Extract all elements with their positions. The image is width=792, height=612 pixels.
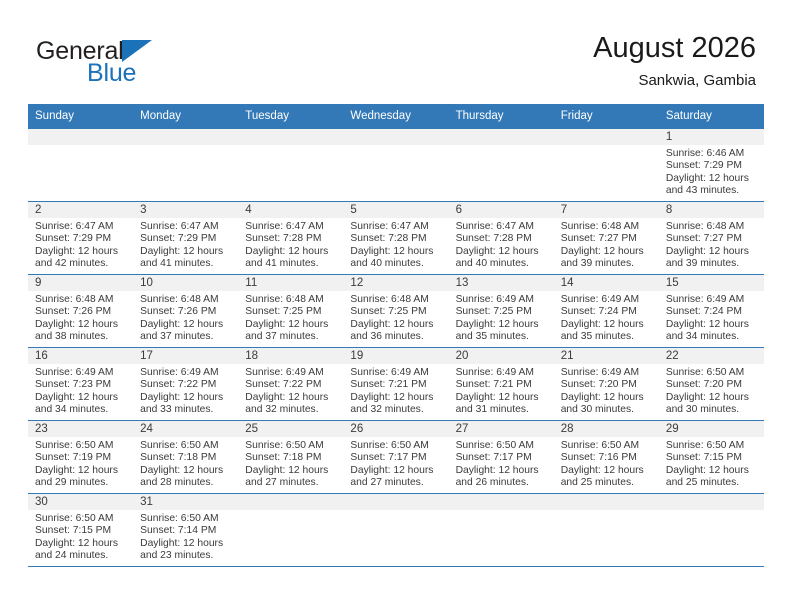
sun-times: Sunrise: 6:50 AMSunset: 7:20 PMDaylight:… — [659, 364, 764, 417]
calendar-week-row: 2Sunrise: 6:47 AMSunset: 7:29 PMDaylight… — [28, 202, 764, 275]
daylight-line-1: Daylight: 12 hours — [561, 392, 655, 404]
daylight-line-2: and 26 minutes. — [456, 477, 550, 489]
sun-times: Sunrise: 6:47 AMSunset: 7:28 PMDaylight:… — [343, 218, 448, 271]
sunset-time: Sunset: 7:23 PM — [35, 379, 129, 391]
sunrise-time: Sunrise: 6:49 AM — [456, 294, 550, 306]
daylight-line-2: and 33 minutes. — [140, 404, 234, 416]
daylight-line-1: Daylight: 12 hours — [245, 465, 339, 477]
daylight-line-2: and 39 minutes. — [561, 258, 655, 270]
daylight-line-2: and 27 minutes. — [245, 477, 339, 489]
day-cell-empty — [28, 129, 133, 202]
day-number: 14 — [554, 275, 659, 291]
daylight-line-1: Daylight: 12 hours — [245, 392, 339, 404]
logo-text-blue: Blue — [87, 60, 136, 86]
weekday-header-saturday: Saturday — [659, 104, 764, 129]
sunrise-time: Sunrise: 6:49 AM — [456, 367, 550, 379]
sunset-time: Sunset: 7:17 PM — [350, 452, 444, 464]
daylight-line-2: and 40 minutes. — [456, 258, 550, 270]
sun-times: Sunrise: 6:49 AMSunset: 7:25 PMDaylight:… — [449, 291, 554, 344]
weekday-header-wednesday: Wednesday — [343, 104, 448, 129]
sunset-time: Sunset: 7:26 PM — [140, 306, 234, 318]
sunset-time: Sunset: 7:17 PM — [456, 452, 550, 464]
daylight-line-2: and 30 minutes. — [561, 404, 655, 416]
sun-times: Sunrise: 6:50 AMSunset: 7:14 PMDaylight:… — [133, 510, 238, 563]
day-cell[interactable]: 11Sunrise: 6:48 AMSunset: 7:25 PMDayligh… — [238, 275, 343, 348]
day-number: 7 — [554, 202, 659, 218]
sun-times: Sunrise: 6:47 AMSunset: 7:28 PMDaylight:… — [238, 218, 343, 271]
day-number: 17 — [133, 348, 238, 364]
sunset-time: Sunset: 7:20 PM — [666, 379, 760, 391]
day-cell-empty — [343, 129, 448, 202]
day-cell[interactable]: 19Sunrise: 6:49 AMSunset: 7:21 PMDayligh… — [343, 348, 448, 421]
sunset-time: Sunset: 7:24 PM — [666, 306, 760, 318]
day-number — [238, 129, 343, 145]
sunrise-time: Sunrise: 6:50 AM — [561, 440, 655, 452]
sunrise-time: Sunrise: 6:49 AM — [561, 367, 655, 379]
day-number: 28 — [554, 421, 659, 437]
day-cell[interactable]: 8Sunrise: 6:48 AMSunset: 7:27 PMDaylight… — [659, 202, 764, 275]
sunset-time: Sunset: 7:22 PM — [245, 379, 339, 391]
sunrise-time: Sunrise: 6:47 AM — [35, 221, 129, 233]
daylight-line-1: Daylight: 12 hours — [561, 246, 655, 258]
daylight-line-2: and 30 minutes. — [666, 404, 760, 416]
sunrise-time: Sunrise: 6:48 AM — [140, 294, 234, 306]
sunset-time: Sunset: 7:25 PM — [456, 306, 550, 318]
daylight-line-1: Daylight: 12 hours — [140, 246, 234, 258]
calendar-header-row: Sunday Monday Tuesday Wednesday Thursday… — [28, 104, 764, 129]
daylight-line-1: Daylight: 12 hours — [35, 246, 129, 258]
day-cell[interactable]: 30Sunrise: 6:50 AMSunset: 7:15 PMDayligh… — [28, 494, 133, 567]
day-number: 5 — [343, 202, 448, 218]
sunrise-time: Sunrise: 6:48 AM — [561, 221, 655, 233]
day-cell[interactable]: 17Sunrise: 6:49 AMSunset: 7:22 PMDayligh… — [133, 348, 238, 421]
daylight-line-1: Daylight: 12 hours — [350, 246, 444, 258]
title-block: August 2026 Sankwia, Gambia — [296, 30, 756, 92]
sun-times: Sunrise: 6:50 AMSunset: 7:16 PMDaylight:… — [554, 437, 659, 490]
day-cell[interactable]: 1Sunrise: 6:46 AMSunset: 7:29 PMDaylight… — [659, 129, 764, 202]
sun-times: Sunrise: 6:49 AMSunset: 7:22 PMDaylight:… — [133, 364, 238, 417]
day-number: 10 — [133, 275, 238, 291]
sunset-time: Sunset: 7:25 PM — [350, 306, 444, 318]
sun-times: Sunrise: 6:49 AMSunset: 7:24 PMDaylight:… — [554, 291, 659, 344]
sun-times: Sunrise: 6:48 AMSunset: 7:25 PMDaylight:… — [343, 291, 448, 344]
day-number: 6 — [449, 202, 554, 218]
day-cell[interactable]: 7Sunrise: 6:48 AMSunset: 7:27 PMDaylight… — [554, 202, 659, 275]
sunset-time: Sunset: 7:16 PM — [561, 452, 655, 464]
daylight-line-2: and 25 minutes. — [666, 477, 760, 489]
sun-times: Sunrise: 6:48 AMSunset: 7:26 PMDaylight:… — [28, 291, 133, 344]
sun-times: Sunrise: 6:50 AMSunset: 7:17 PMDaylight:… — [343, 437, 448, 490]
daylight-line-2: and 23 minutes. — [140, 550, 234, 562]
sun-times: Sunrise: 6:50 AMSunset: 7:18 PMDaylight:… — [238, 437, 343, 490]
calendar-table: Sunday Monday Tuesday Wednesday Thursday… — [28, 104, 764, 567]
day-number — [449, 494, 554, 510]
day-number — [343, 494, 448, 510]
sunrise-time: Sunrise: 6:50 AM — [140, 440, 234, 452]
sun-times: Sunrise: 6:48 AMSunset: 7:27 PMDaylight:… — [554, 218, 659, 271]
day-number: 24 — [133, 421, 238, 437]
sunset-time: Sunset: 7:28 PM — [456, 233, 550, 245]
daylight-line-1: Daylight: 12 hours — [561, 319, 655, 331]
daylight-line-1: Daylight: 12 hours — [350, 465, 444, 477]
day-cell[interactable]: 2Sunrise: 6:47 AMSunset: 7:29 PMDaylight… — [28, 202, 133, 275]
sunset-time: Sunset: 7:29 PM — [35, 233, 129, 245]
sunrise-time: Sunrise: 6:47 AM — [456, 221, 550, 233]
sunset-time: Sunset: 7:21 PM — [350, 379, 444, 391]
daylight-line-1: Daylight: 12 hours — [456, 246, 550, 258]
day-number: 26 — [343, 421, 448, 437]
day-cell[interactable]: 12Sunrise: 6:48 AMSunset: 7:25 PMDayligh… — [343, 275, 448, 348]
day-cell-empty — [554, 494, 659, 567]
sunset-time: Sunset: 7:21 PM — [456, 379, 550, 391]
daylight-line-2: and 24 minutes. — [35, 550, 129, 562]
sun-times: Sunrise: 6:47 AMSunset: 7:28 PMDaylight:… — [449, 218, 554, 271]
sunrise-time: Sunrise: 6:48 AM — [35, 294, 129, 306]
day-cell[interactable]: 13Sunrise: 6:49 AMSunset: 7:25 PMDayligh… — [449, 275, 554, 348]
day-number: 11 — [238, 275, 343, 291]
day-cell[interactable]: 22Sunrise: 6:50 AMSunset: 7:20 PMDayligh… — [659, 348, 764, 421]
day-cell-empty — [238, 129, 343, 202]
daylight-line-2: and 37 minutes. — [140, 331, 234, 343]
daylight-line-2: and 41 minutes. — [245, 258, 339, 270]
day-number: 13 — [449, 275, 554, 291]
day-cell[interactable]: 10Sunrise: 6:48 AMSunset: 7:26 PMDayligh… — [133, 275, 238, 348]
day-cell[interactable]: 29Sunrise: 6:50 AMSunset: 7:15 PMDayligh… — [659, 421, 764, 494]
day-number: 16 — [28, 348, 133, 364]
sunset-time: Sunset: 7:28 PM — [350, 233, 444, 245]
day-number: 18 — [238, 348, 343, 364]
daylight-line-1: Daylight: 12 hours — [456, 319, 550, 331]
location-subtitle: Sankwia, Gambia — [296, 70, 756, 92]
day-cell[interactable]: 15Sunrise: 6:49 AMSunset: 7:24 PMDayligh… — [659, 275, 764, 348]
sunrise-time: Sunrise: 6:50 AM — [245, 440, 339, 452]
calendar-body: 1Sunrise: 6:46 AMSunset: 7:29 PMDaylight… — [28, 129, 764, 567]
daylight-line-1: Daylight: 12 hours — [140, 465, 234, 477]
calendar-week-row: 23Sunrise: 6:50 AMSunset: 7:19 PMDayligh… — [28, 421, 764, 494]
day-cell-empty — [238, 494, 343, 567]
sunset-time: Sunset: 7:25 PM — [245, 306, 339, 318]
day-number — [449, 129, 554, 145]
sunset-time: Sunset: 7:18 PM — [245, 452, 339, 464]
calendar-week-row: 16Sunrise: 6:49 AMSunset: 7:23 PMDayligh… — [28, 348, 764, 421]
day-cell-empty — [343, 494, 448, 567]
day-number: 2 — [28, 202, 133, 218]
sunrise-time: Sunrise: 6:47 AM — [350, 221, 444, 233]
day-number: 20 — [449, 348, 554, 364]
sunset-time: Sunset: 7:15 PM — [666, 452, 760, 464]
day-number: 22 — [659, 348, 764, 364]
daylight-line-2: and 25 minutes. — [561, 477, 655, 489]
sun-times: Sunrise: 6:50 AMSunset: 7:19 PMDaylight:… — [28, 437, 133, 490]
sun-times: Sunrise: 6:49 AMSunset: 7:24 PMDaylight:… — [659, 291, 764, 344]
day-number — [238, 494, 343, 510]
sunrise-time: Sunrise: 6:49 AM — [561, 294, 655, 306]
day-cell-empty — [554, 129, 659, 202]
sun-times: Sunrise: 6:48 AMSunset: 7:25 PMDaylight:… — [238, 291, 343, 344]
daylight-line-1: Daylight: 12 hours — [350, 392, 444, 404]
daylight-line-2: and 38 minutes. — [35, 331, 129, 343]
generalblue-logo[interactable]: General Blue — [36, 38, 216, 90]
sunrise-time: Sunrise: 6:50 AM — [456, 440, 550, 452]
sunrise-time: Sunrise: 6:47 AM — [140, 221, 234, 233]
day-number: 8 — [659, 202, 764, 218]
day-number — [343, 129, 448, 145]
sunrise-time: Sunrise: 6:49 AM — [35, 367, 129, 379]
day-number: 3 — [133, 202, 238, 218]
sun-times: Sunrise: 6:50 AMSunset: 7:15 PMDaylight:… — [659, 437, 764, 490]
sunrise-time: Sunrise: 6:47 AM — [245, 221, 339, 233]
daylight-line-1: Daylight: 12 hours — [35, 392, 129, 404]
day-number: 30 — [28, 494, 133, 510]
daylight-line-2: and 31 minutes. — [456, 404, 550, 416]
sunset-time: Sunset: 7:26 PM — [35, 306, 129, 318]
daylight-line-1: Daylight: 12 hours — [140, 319, 234, 331]
sunset-time: Sunset: 7:24 PM — [561, 306, 655, 318]
day-cell-empty — [133, 129, 238, 202]
sunset-time: Sunset: 7:14 PM — [140, 525, 234, 537]
daylight-line-1: Daylight: 12 hours — [456, 392, 550, 404]
daylight-line-2: and 34 minutes. — [666, 331, 760, 343]
day-cell[interactable]: 28Sunrise: 6:50 AMSunset: 7:16 PMDayligh… — [554, 421, 659, 494]
daylight-line-1: Daylight: 12 hours — [35, 465, 129, 477]
sunset-time: Sunset: 7:29 PM — [140, 233, 234, 245]
daylight-line-1: Daylight: 12 hours — [561, 465, 655, 477]
day-cell[interactable]: 24Sunrise: 6:50 AMSunset: 7:18 PMDayligh… — [133, 421, 238, 494]
daylight-line-2: and 32 minutes. — [245, 404, 339, 416]
day-number: 31 — [133, 494, 238, 510]
daylight-line-1: Daylight: 12 hours — [140, 392, 234, 404]
sunset-time: Sunset: 7:27 PM — [666, 233, 760, 245]
sunset-time: Sunset: 7:28 PM — [245, 233, 339, 245]
weekday-header-friday: Friday — [554, 104, 659, 129]
sunrise-time: Sunrise: 6:50 AM — [35, 440, 129, 452]
daylight-line-1: Daylight: 12 hours — [35, 538, 129, 550]
day-cell[interactable]: 23Sunrise: 6:50 AMSunset: 7:19 PMDayligh… — [28, 421, 133, 494]
day-cell[interactable]: 25Sunrise: 6:50 AMSunset: 7:18 PMDayligh… — [238, 421, 343, 494]
day-number: 19 — [343, 348, 448, 364]
daylight-line-2: and 40 minutes. — [350, 258, 444, 270]
weekday-header-thursday: Thursday — [449, 104, 554, 129]
day-cell[interactable]: 6Sunrise: 6:47 AMSunset: 7:28 PMDaylight… — [449, 202, 554, 275]
sun-times: Sunrise: 6:49 AMSunset: 7:21 PMDaylight:… — [449, 364, 554, 417]
daylight-line-2: and 36 minutes. — [350, 331, 444, 343]
day-cell[interactable]: 21Sunrise: 6:49 AMSunset: 7:20 PMDayligh… — [554, 348, 659, 421]
daylight-line-1: Daylight: 12 hours — [666, 246, 760, 258]
sun-times: Sunrise: 6:49 AMSunset: 7:23 PMDaylight:… — [28, 364, 133, 417]
daylight-line-2: and 43 minutes. — [666, 185, 760, 197]
sunset-time: Sunset: 7:19 PM — [35, 452, 129, 464]
sunrise-time: Sunrise: 6:48 AM — [666, 221, 760, 233]
sunrise-time: Sunrise: 6:50 AM — [666, 440, 760, 452]
day-cell-empty — [449, 494, 554, 567]
sun-times: Sunrise: 6:50 AMSunset: 7:15 PMDaylight:… — [28, 510, 133, 563]
calendar-week-row: 9Sunrise: 6:48 AMSunset: 7:26 PMDaylight… — [28, 275, 764, 348]
day-cell[interactable]: 3Sunrise: 6:47 AMSunset: 7:29 PMDaylight… — [133, 202, 238, 275]
sun-times: Sunrise: 6:50 AMSunset: 7:18 PMDaylight:… — [133, 437, 238, 490]
day-cell[interactable]: 5Sunrise: 6:47 AMSunset: 7:28 PMDaylight… — [343, 202, 448, 275]
sunrise-time: Sunrise: 6:49 AM — [245, 367, 339, 379]
daylight-line-1: Daylight: 12 hours — [245, 246, 339, 258]
day-number: 12 — [343, 275, 448, 291]
daylight-line-2: and 37 minutes. — [245, 331, 339, 343]
day-number: 21 — [554, 348, 659, 364]
weekday-header-tuesday: Tuesday — [238, 104, 343, 129]
daylight-line-1: Daylight: 12 hours — [245, 319, 339, 331]
day-cell[interactable]: 18Sunrise: 6:49 AMSunset: 7:22 PMDayligh… — [238, 348, 343, 421]
weekday-header-sunday: Sunday — [28, 104, 133, 129]
day-number: 15 — [659, 275, 764, 291]
day-cell[interactable]: 9Sunrise: 6:48 AMSunset: 7:26 PMDaylight… — [28, 275, 133, 348]
sunrise-time: Sunrise: 6:50 AM — [140, 513, 234, 525]
day-number: 27 — [449, 421, 554, 437]
sunrise-time: Sunrise: 6:49 AM — [350, 367, 444, 379]
daylight-line-2: and 41 minutes. — [140, 258, 234, 270]
page-title: August 2026 — [296, 30, 756, 66]
calendar-week-row: 30Sunrise: 6:50 AMSunset: 7:15 PMDayligh… — [28, 494, 764, 567]
daylight-line-1: Daylight: 12 hours — [140, 538, 234, 550]
day-cell[interactable]: 26Sunrise: 6:50 AMSunset: 7:17 PMDayligh… — [343, 421, 448, 494]
sunset-time: Sunset: 7:29 PM — [666, 160, 760, 172]
sun-times: Sunrise: 6:49 AMSunset: 7:21 PMDaylight:… — [343, 364, 448, 417]
sunrise-time: Sunrise: 6:48 AM — [245, 294, 339, 306]
daylight-line-2: and 39 minutes. — [666, 258, 760, 270]
day-number — [554, 494, 659, 510]
sunset-time: Sunset: 7:27 PM — [561, 233, 655, 245]
sun-times: Sunrise: 6:47 AMSunset: 7:29 PMDaylight:… — [133, 218, 238, 271]
day-cell[interactable]: 20Sunrise: 6:49 AMSunset: 7:21 PMDayligh… — [449, 348, 554, 421]
daylight-line-2: and 28 minutes. — [140, 477, 234, 489]
day-number — [133, 129, 238, 145]
sunrise-time: Sunrise: 6:49 AM — [140, 367, 234, 379]
sunrise-time: Sunrise: 6:50 AM — [350, 440, 444, 452]
sunrise-time: Sunrise: 6:48 AM — [350, 294, 444, 306]
day-number: 1 — [659, 129, 764, 145]
day-cell-empty — [659, 494, 764, 567]
day-cell[interactable]: 27Sunrise: 6:50 AMSunset: 7:17 PMDayligh… — [449, 421, 554, 494]
daylight-line-2: and 35 minutes. — [456, 331, 550, 343]
daylight-line-2: and 27 minutes. — [350, 477, 444, 489]
day-cell[interactable]: 4Sunrise: 6:47 AMSunset: 7:28 PMDaylight… — [238, 202, 343, 275]
page-header: General Blue August 2026 Sankwia, Gambia — [0, 0, 792, 100]
sunset-time: Sunset: 7:20 PM — [561, 379, 655, 391]
daylight-line-2: and 29 minutes. — [35, 477, 129, 489]
day-cell-empty — [449, 129, 554, 202]
day-number: 29 — [659, 421, 764, 437]
calendar-week-row: 1Sunrise: 6:46 AMSunset: 7:29 PMDaylight… — [28, 129, 764, 202]
sun-times: Sunrise: 6:47 AMSunset: 7:29 PMDaylight:… — [28, 218, 133, 271]
day-cell[interactable]: 16Sunrise: 6:49 AMSunset: 7:23 PMDayligh… — [28, 348, 133, 421]
day-number — [554, 129, 659, 145]
day-number: 25 — [238, 421, 343, 437]
sun-times: Sunrise: 6:50 AMSunset: 7:17 PMDaylight:… — [449, 437, 554, 490]
sun-times: Sunrise: 6:48 AMSunset: 7:27 PMDaylight:… — [659, 218, 764, 271]
day-number: 9 — [28, 275, 133, 291]
day-cell[interactable]: 31Sunrise: 6:50 AMSunset: 7:14 PMDayligh… — [133, 494, 238, 567]
daylight-line-2: and 32 minutes. — [350, 404, 444, 416]
day-number — [28, 129, 133, 145]
sun-times: Sunrise: 6:49 AMSunset: 7:22 PMDaylight:… — [238, 364, 343, 417]
sunrise-time: Sunrise: 6:49 AM — [666, 294, 760, 306]
sunrise-time: Sunrise: 6:50 AM — [666, 367, 760, 379]
sunrise-time: Sunrise: 6:50 AM — [35, 513, 129, 525]
day-number — [659, 494, 764, 510]
daylight-line-1: Daylight: 12 hours — [666, 392, 760, 404]
sunrise-time: Sunrise: 6:46 AM — [666, 148, 760, 160]
daylight-line-1: Daylight: 12 hours — [666, 173, 760, 185]
day-cell[interactable]: 14Sunrise: 6:49 AMSunset: 7:24 PMDayligh… — [554, 275, 659, 348]
sunset-time: Sunset: 7:22 PM — [140, 379, 234, 391]
day-number: 4 — [238, 202, 343, 218]
daylight-line-1: Daylight: 12 hours — [35, 319, 129, 331]
daylight-line-1: Daylight: 12 hours — [666, 465, 760, 477]
daylight-line-1: Daylight: 12 hours — [666, 319, 760, 331]
day-number: 23 — [28, 421, 133, 437]
daylight-line-2: and 35 minutes. — [561, 331, 655, 343]
sun-times: Sunrise: 6:46 AMSunset: 7:29 PMDaylight:… — [659, 145, 764, 198]
daylight-line-1: Daylight: 12 hours — [350, 319, 444, 331]
weekday-header-monday: Monday — [133, 104, 238, 129]
sunset-time: Sunset: 7:18 PM — [140, 452, 234, 464]
daylight-line-1: Daylight: 12 hours — [456, 465, 550, 477]
calendar-page: General Blue August 2026 Sankwia, Gambia… — [0, 0, 792, 612]
daylight-line-2: and 34 minutes. — [35, 404, 129, 416]
sunset-time: Sunset: 7:15 PM — [35, 525, 129, 537]
daylight-line-2: and 42 minutes. — [35, 258, 129, 270]
sun-times: Sunrise: 6:48 AMSunset: 7:26 PMDaylight:… — [133, 291, 238, 344]
sun-times: Sunrise: 6:49 AMSunset: 7:20 PMDaylight:… — [554, 364, 659, 417]
